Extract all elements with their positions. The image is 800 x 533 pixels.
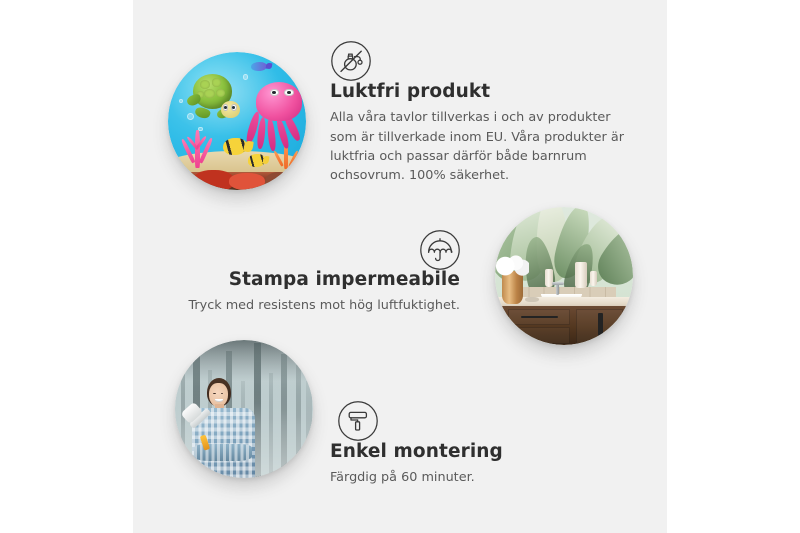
no-fragrance-icon (330, 40, 372, 82)
image-woman-with-roller-forest (175, 340, 313, 478)
image-underwater-sea-life-mural (168, 52, 306, 190)
feature-body: Färgdig på 60 minuter. (330, 468, 610, 487)
feature-body: Alla våra tavlor tillverkas i och av pro… (330, 108, 630, 186)
umbrella-icon (419, 229, 461, 271)
feature-text-waterproof-print: Stampa impermeabile Tryck med resistens … (150, 268, 460, 316)
feature-title: Luktfri produkt (330, 80, 630, 103)
octopus-figure (245, 82, 303, 154)
feature-title: Stampa impermeabile (150, 268, 460, 291)
feature-text-easy-assembly: Enkel montering Färgdig på 60 minuter. (330, 440, 610, 488)
paint-roller-icon (337, 400, 379, 442)
image-bathroom-tropical-wallpaper (495, 207, 633, 345)
turtle-figure (186, 74, 241, 121)
feature-title: Enkel montering (330, 440, 610, 463)
product-feature-infographic: Luktfri produkt Alla våra tavlor tillver… (0, 0, 800, 533)
feature-text-odour-free: Luktfri produkt Alla våra tavlor tillver… (330, 80, 630, 186)
feature-body: Tryck med resistens mot hög luftfuktighe… (150, 296, 460, 315)
person-figure (186, 373, 266, 478)
